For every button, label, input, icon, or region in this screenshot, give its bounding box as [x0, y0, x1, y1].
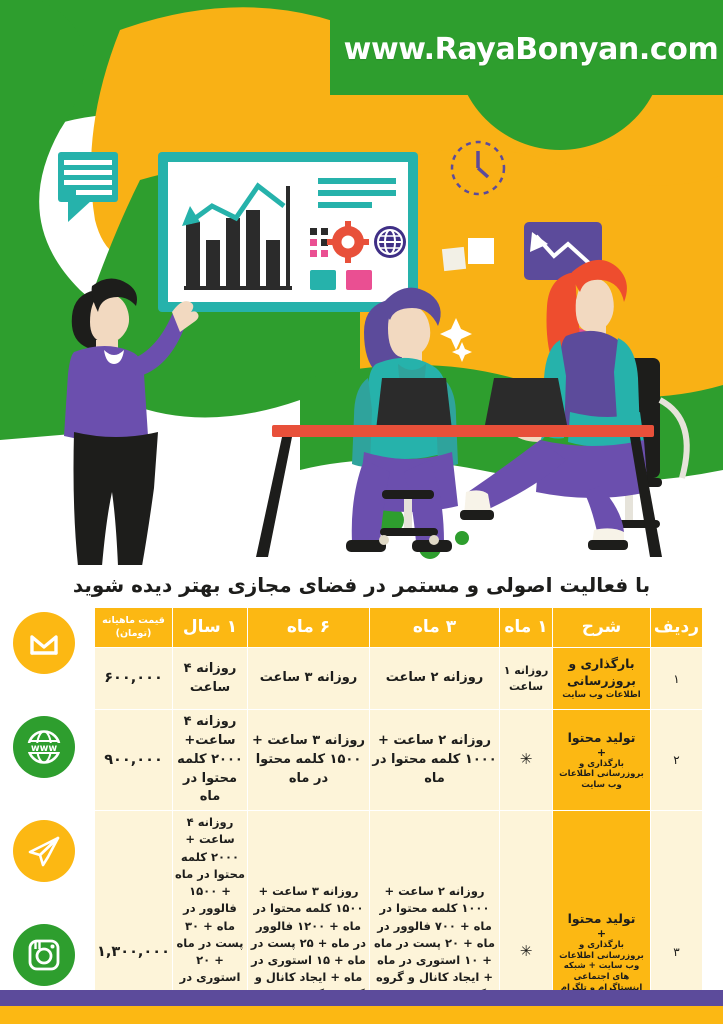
header-monthly-price: قیمت ماهیانه (تومان): [95, 608, 173, 648]
telegram-paper-plane-icon[interactable]: [13, 820, 75, 882]
site-url[interactable]: www.RayaBonyan.com: [356, 26, 706, 72]
cell-3-months: روزانه ۲ ساعت + ۱۰۰۰ کلمه محتوا در ماه: [370, 710, 500, 811]
cell-price: ۹۰۰,۰۰۰: [95, 710, 173, 811]
hero-illustration: www.RayaBonyan.com: [0, 0, 723, 565]
desc-main: بارگذاری و: [555, 656, 648, 673]
poster-root: www.RayaBonyan.com با فعالیت اصولی و مست…: [0, 0, 723, 1024]
desc-plus: بروزرسانی: [555, 673, 648, 690]
website-www-globe-icon[interactable]: www: [13, 716, 75, 778]
header-6-months: ۶ ماه: [248, 608, 370, 648]
mail-icon[interactable]: [13, 612, 75, 674]
cell-radif: ۲: [651, 710, 703, 811]
desc-main: تولید محتوا: [555, 730, 648, 747]
bottom-amber-bar: [0, 1006, 723, 1024]
cell-3-months: روزانه ۲ ساعت: [370, 648, 500, 710]
cell-1-month: روزانه ۱ ساعت: [500, 648, 553, 710]
cell-price: ۶۰۰,۰۰۰: [95, 648, 173, 710]
desc-main: تولید محتوا: [555, 911, 648, 928]
page-title: با فعالیت اصولی و مستمر در فضای مجازی به…: [0, 566, 723, 604]
header-price-line2: (تومان): [116, 628, 152, 639]
pricing-table-wrapper: ردیف شرح ۱ ماه ۳ ماه ۶ ماه ۱ سال قیمت ما…: [95, 607, 703, 1024]
desc-plus: +: [555, 928, 648, 940]
desc-sub: بارگذاری و بروزرسانی اطلاعات وب سایت: [555, 759, 648, 791]
pricing-table: ردیف شرح ۱ ماه ۳ ماه ۶ ماه ۱ سال قیمت ما…: [94, 607, 703, 1024]
table-row: ۱ بارگذاری و بروزرسانی اطلاعات وب سایت ر…: [95, 648, 703, 710]
desc-sub: بارگذاری و بروزرسانی اطلاعات وب سایت + ش…: [555, 940, 648, 993]
table-header-row: ردیف شرح ۱ ماه ۳ ماه ۶ ماه ۱ سال قیمت ما…: [95, 608, 703, 648]
desc-sub: اطلاعات وب سایت: [555, 690, 648, 701]
desc-plus: +: [555, 747, 648, 759]
cell-description: تولید محتوا + بارگذاری و بروزرسانی اطلاع…: [553, 710, 651, 811]
header-description: شرح: [553, 608, 651, 648]
cell-6-months: روزانه ۳ ساعت: [248, 648, 370, 710]
header-1-month: ۱ ماه: [500, 608, 553, 648]
header-radif: ردیف: [651, 608, 703, 648]
header-1-year: ۱ سال: [173, 608, 248, 648]
table-row: ۲ تولید محتوا + بارگذاری و بروزرسانی اطل…: [95, 710, 703, 811]
social-icon-rail: www: [13, 612, 85, 984]
cell-radif: ۱: [651, 648, 703, 710]
cell-description: بارگذاری و بروزرسانی اطلاعات وب سایت: [553, 648, 651, 710]
svg-text:www: www: [31, 743, 58, 754]
whiteboard: [158, 152, 418, 312]
header-price-line1: قیمت ماهیانه: [102, 615, 165, 626]
bottom-purple-bar: [0, 990, 723, 1006]
header-3-months: ۳ ماه: [370, 608, 500, 648]
cell-6-months: روزانه ۳ ساعت + ۱۵۰۰ کلمه محتوا در ماه: [248, 710, 370, 811]
cell-1-year: روزانه ۴ ساعت+ ۲۰۰۰ کلمه محتوا در ماه: [173, 710, 248, 811]
cell-1-month: ✳: [500, 710, 553, 811]
instagram-camera-icon[interactable]: [13, 924, 75, 986]
cell-1-year: روزانه ۴ ساعت: [173, 648, 248, 710]
globe-icon: [374, 226, 406, 258]
